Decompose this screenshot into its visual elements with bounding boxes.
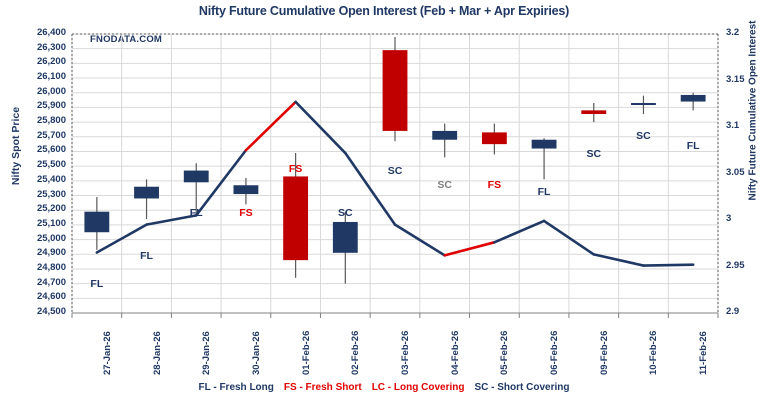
candlestick-body [581, 110, 606, 114]
candlestick-body [383, 50, 408, 131]
x-tick-label: 27-Jan-26 [102, 331, 113, 375]
x-tick-label: 28-Jan-26 [152, 331, 163, 375]
candlestick-body [333, 222, 358, 253]
candlestick-body [432, 131, 457, 140]
candlestick-body [681, 95, 706, 102]
candlestick [532, 138, 557, 179]
chart-legend: FL - Fresh LongFS - Fresh ShortLC - Long… [0, 382, 768, 393]
x-tick-label: 04-Feb-26 [450, 331, 461, 375]
oi-activity-label: FS [239, 207, 252, 219]
x-tick-label: 11-Feb-26 [698, 331, 709, 375]
legend-item: FS - Fresh Short [284, 382, 362, 393]
x-tick-label: 01-Feb-26 [301, 331, 312, 375]
candlestick [134, 179, 159, 219]
candlestick [84, 197, 109, 250]
candlestick-body [631, 103, 656, 105]
candlestick-body [283, 176, 308, 260]
candlestick [333, 212, 358, 284]
oi-activity-label: SC [388, 165, 403, 177]
oi-activity-label: FL [538, 186, 551, 198]
candlestick [234, 178, 259, 204]
oi-line-segment [643, 265, 693, 266]
legend-item: LC - Long Covering [372, 382, 465, 393]
candlestick [383, 37, 408, 141]
candlestick-body [184, 171, 209, 183]
candlestick-body [482, 132, 507, 144]
candlestick [631, 96, 656, 114]
oi-activity-label: SC [586, 148, 601, 160]
candlestick [432, 124, 457, 158]
oi-activity-label: FL [687, 140, 700, 152]
candlestick-body [234, 185, 259, 194]
oi-activity-label: FS [289, 163, 302, 175]
candlestick [482, 124, 507, 155]
oi-activity-label: SC [338, 207, 353, 219]
chart-container: Nifty Future Cumulative Open Interest (F… [0, 0, 768, 402]
x-tick-label: 05-Feb-26 [499, 331, 510, 375]
oi-activity-label: FL [90, 278, 103, 290]
legend-item: SC - Short Covering [474, 382, 569, 393]
oi-activity-label: FL [190, 207, 203, 219]
oi-activity-label: SC [636, 130, 651, 142]
candlestick-body [134, 187, 159, 199]
x-tick-label: 09-Feb-26 [599, 331, 610, 375]
x-tick-label: 02-Feb-26 [350, 331, 361, 375]
x-tick-label: 03-Feb-26 [400, 331, 411, 375]
candlestick-body [84, 212, 109, 233]
oi-activity-label: SC [437, 179, 452, 191]
x-tick-label: 10-Feb-26 [648, 331, 659, 375]
oi-activity-label: FS [488, 179, 501, 191]
x-tick-label: 06-Feb-26 [549, 331, 560, 375]
oi-activity-label: FL [140, 250, 153, 262]
legend-item: FL - Fresh Long [199, 382, 274, 393]
x-tick-label: 30-Jan-26 [251, 331, 262, 375]
candlestick [581, 103, 606, 122]
x-tick-label: 29-Jan-26 [201, 331, 212, 375]
candlestick-body [532, 140, 557, 149]
